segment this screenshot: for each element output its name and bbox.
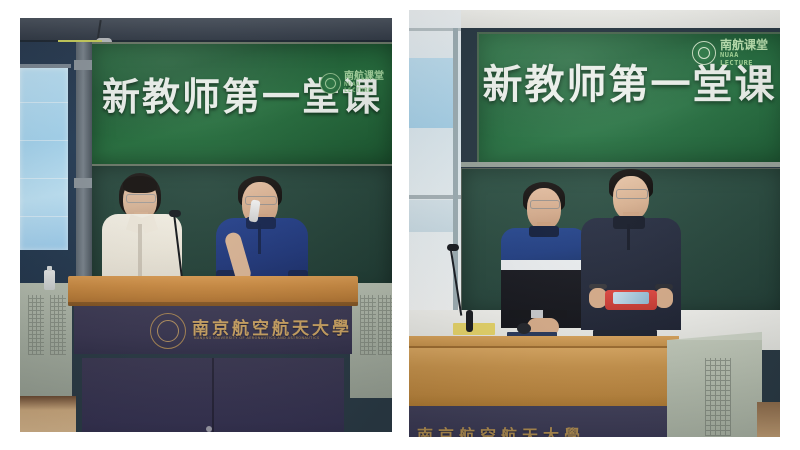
polo-placket xyxy=(627,224,630,250)
photo-right: 新教师第一堂课 南航课堂 NUAA LECTURE xyxy=(409,10,780,437)
window-pane-upper xyxy=(409,58,453,128)
belt-buckle xyxy=(531,310,543,318)
nuaa-crest-icon xyxy=(150,313,186,349)
lectern-microphone xyxy=(466,310,473,332)
polo-white-stripe xyxy=(501,260,587,270)
podium-university-name-en: NANJING UNIVERSITY OF AERONAUTICS AND AS… xyxy=(194,336,384,340)
gooseneck-microphone-head xyxy=(447,244,459,251)
nuaa-lecture-logo: 南航课堂 NUAA LECTURE xyxy=(692,38,776,68)
photo-left: 新教师第一堂课 南航课堂 NUAA LECTURE xyxy=(20,18,392,432)
gooseneck-microphone-head xyxy=(169,210,181,217)
glasses-icon xyxy=(530,200,560,209)
photo-composite: 新教师第一堂课 南航课堂 NUAA LECTURE xyxy=(0,0,800,450)
polo-placket xyxy=(258,224,261,254)
vent-grille xyxy=(378,295,392,355)
banner-headline: 新教师第一堂课 xyxy=(477,65,780,105)
glasses-icon xyxy=(245,196,277,205)
nuaa-seal-icon xyxy=(692,41,716,65)
podium-university-name-cn: 南京航空航天大學 xyxy=(417,422,585,437)
vent-grille xyxy=(28,295,44,355)
water-bottle xyxy=(44,270,55,290)
projection-screen xyxy=(20,68,68,250)
equipment-cabinet-left xyxy=(20,283,72,398)
hair-fringe xyxy=(123,176,157,193)
polo-collar xyxy=(529,226,559,237)
podium-lock-knob xyxy=(206,426,212,432)
logo-latin-text: NUAA LECTURE xyxy=(344,82,392,94)
glasses-icon xyxy=(616,189,648,199)
vent-grille xyxy=(705,358,731,436)
chalkboard-tray xyxy=(461,162,780,167)
gift-box-contents xyxy=(613,292,649,304)
polo-shirt xyxy=(581,218,681,330)
podium-door-seam xyxy=(212,358,214,432)
wall-post-bracket-top xyxy=(74,60,94,70)
desk-front-panel xyxy=(409,348,677,410)
podium-worktop xyxy=(68,276,358,306)
floor xyxy=(757,402,780,437)
yellow-folder xyxy=(453,323,495,335)
control-knob xyxy=(517,323,531,334)
floor xyxy=(20,396,76,432)
wall-post-bracket-bottom xyxy=(74,178,94,188)
ceiling-edge xyxy=(409,10,780,28)
logo-latin-text: NUAA LECTURE xyxy=(720,51,776,68)
window-pane-lower xyxy=(409,200,453,232)
glasses-icon xyxy=(126,194,156,203)
hand-right xyxy=(655,288,673,308)
vent-grille xyxy=(50,295,66,355)
vent-grille xyxy=(360,295,376,355)
nuaa-lecture-logo: 南航课堂 NUAA LECTURE xyxy=(320,70,392,96)
nuaa-seal-icon xyxy=(320,73,341,94)
logo-chinese-text: 南航课堂 xyxy=(720,39,776,51)
wall-post xyxy=(76,42,92,292)
